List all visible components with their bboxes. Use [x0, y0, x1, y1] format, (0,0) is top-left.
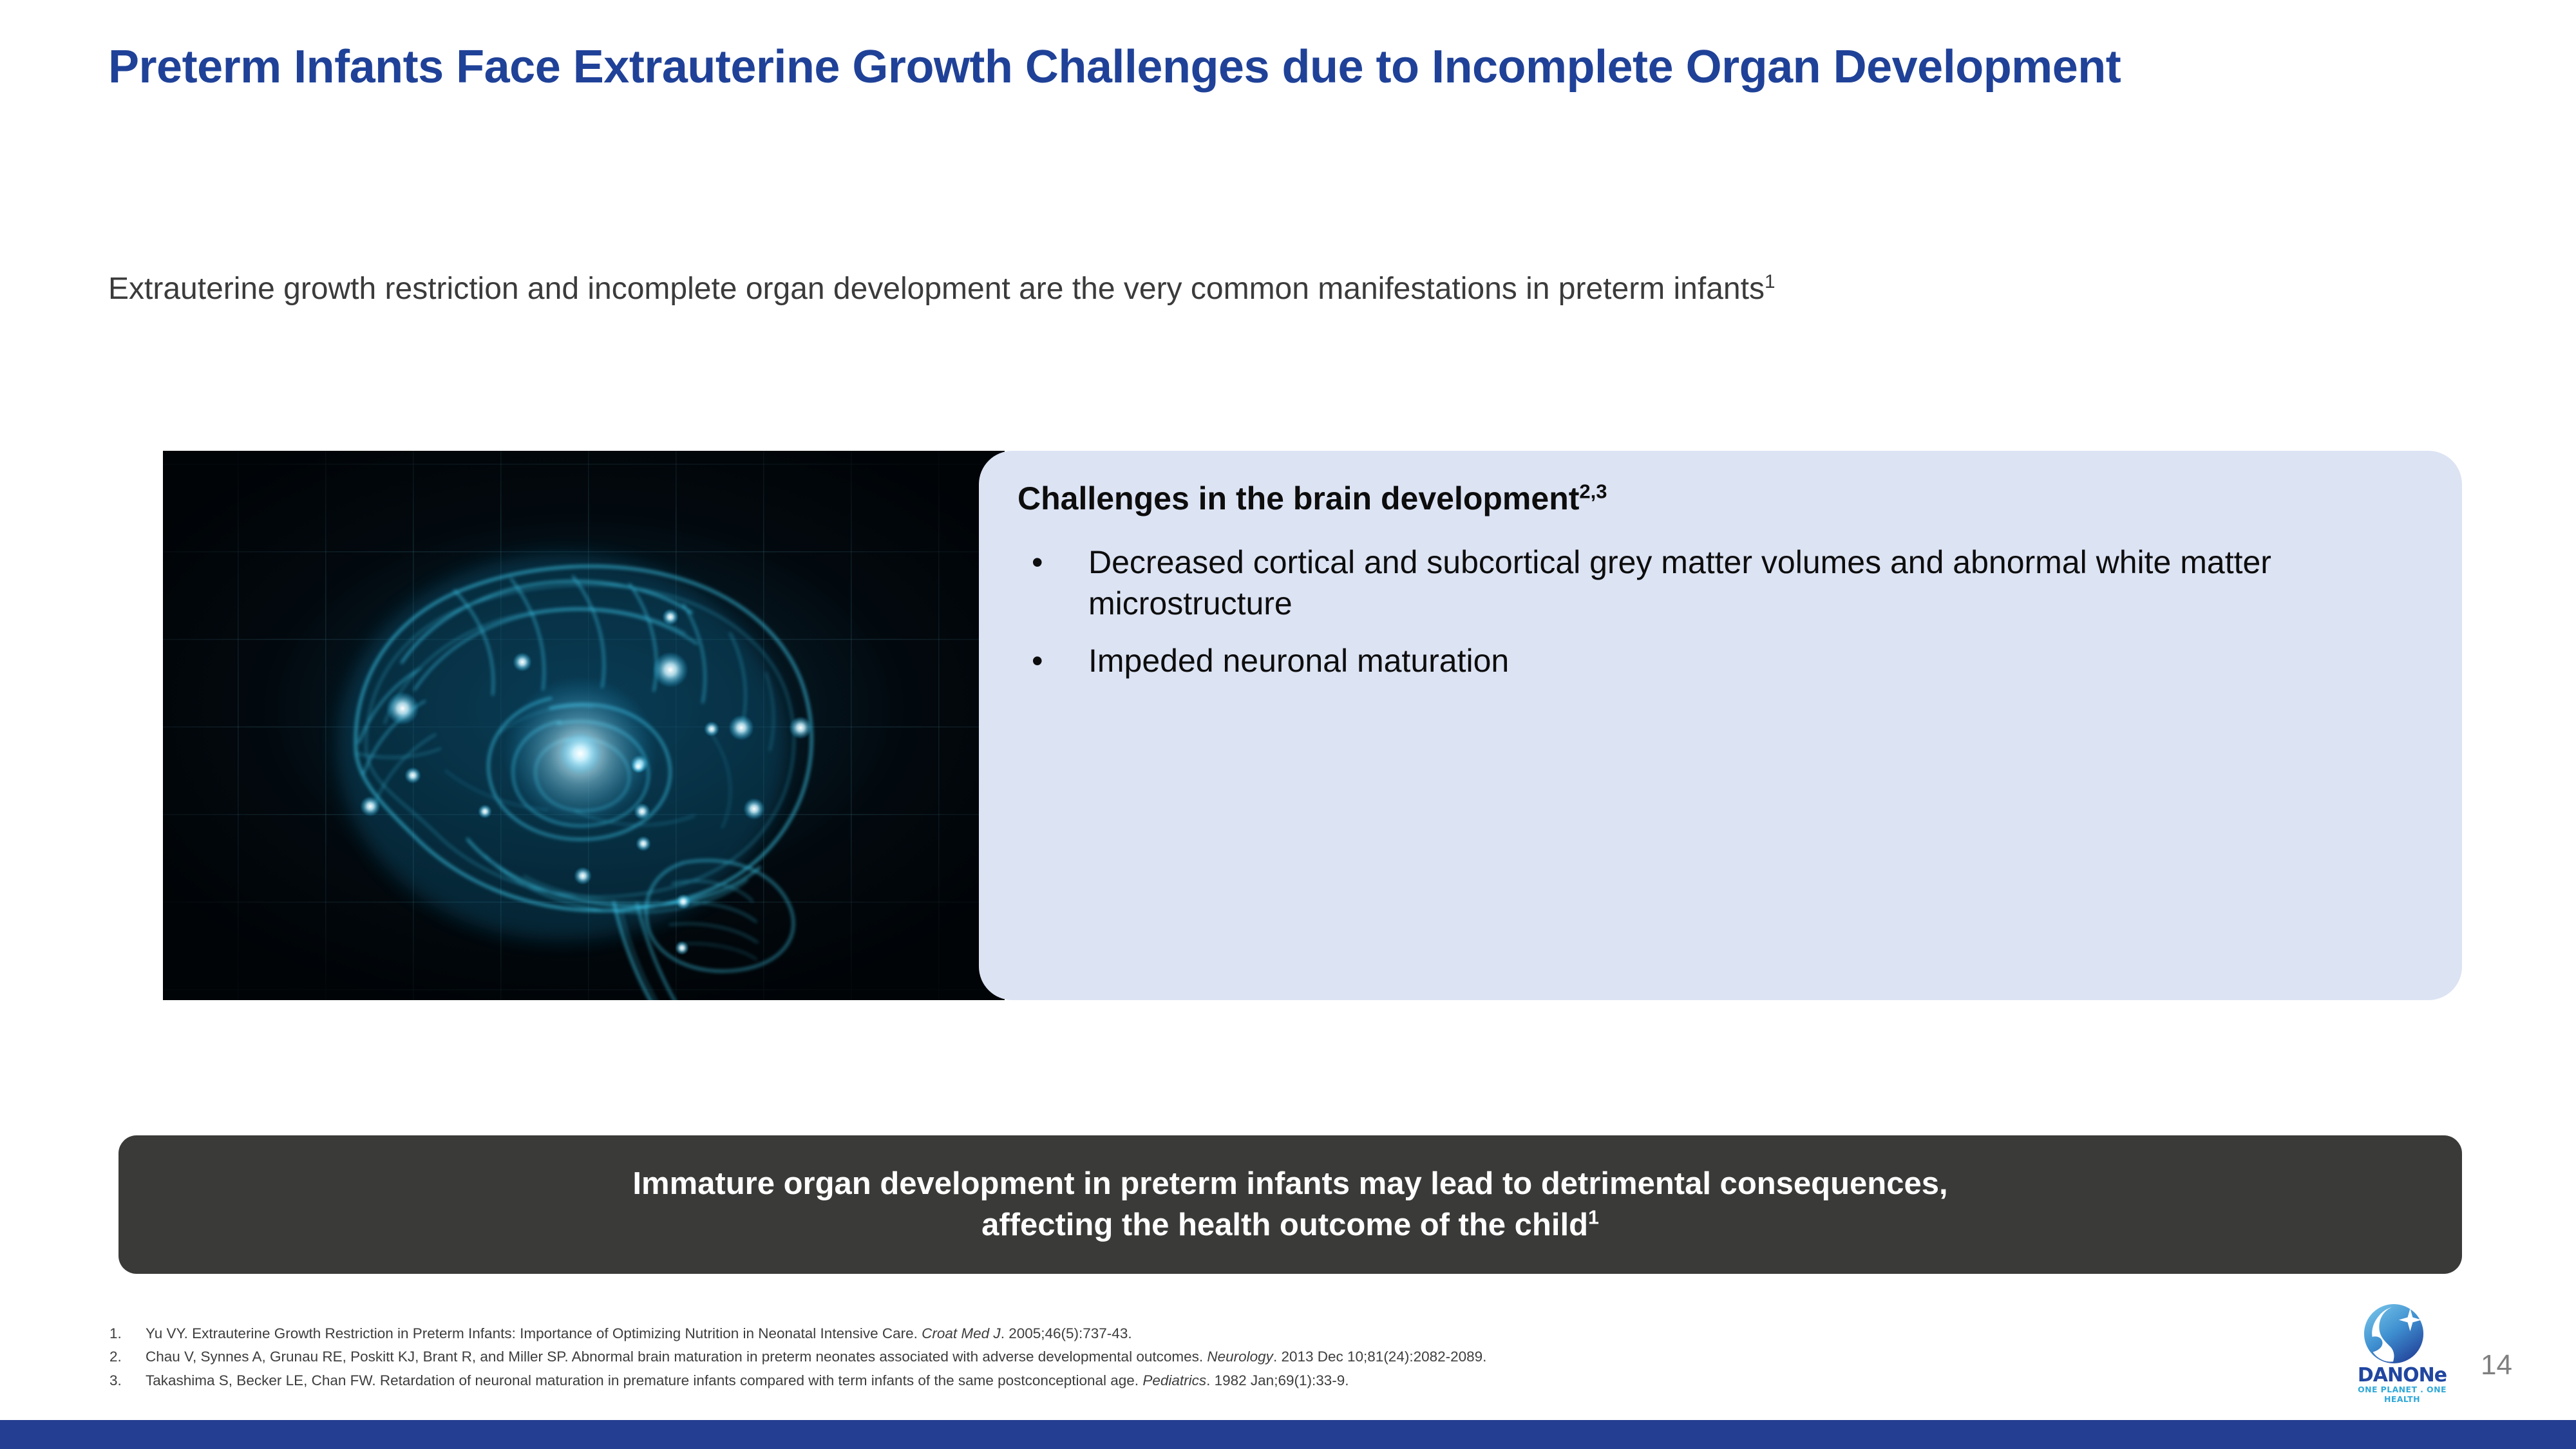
brain-image [163, 451, 1005, 1000]
callout-heading-text: Challenges in the brain development [1018, 480, 1579, 516]
danone-wordmark: DANONe [2351, 1364, 2454, 1387]
takeaway-line-1: Immature organ development in preterm in… [632, 1166, 1947, 1201]
reference-citation-pre: Chau V, Synnes A, Grunau RE, Poskitt KJ,… [146, 1349, 1207, 1365]
subtitle-text: Extrauterine growth restriction and inco… [108, 272, 1765, 306]
takeaway-text: Immature organ development in preterm in… [632, 1164, 1947, 1245]
callout-heading: Challenges in the brain development2,3 [1018, 479, 2423, 518]
reference-citation-post: . 2013 Dec 10;81(24):2082-2089. [1273, 1349, 1487, 1365]
list-item-label: Decreased cortical and subcortical grey … [1088, 544, 2271, 621]
takeaway-line-2: affecting the health outcome of the chil… [981, 1207, 1588, 1242]
reference-citation-pre: Yu VY. Extrauterine Growth Restriction i… [146, 1325, 922, 1341]
reference-item: 1. Yu VY. Extrauterine Growth Restrictio… [109, 1322, 2235, 1345]
bullet-marker-icon: • [1032, 641, 1043, 682]
danone-globe-icon [2362, 1302, 2425, 1365]
reference-journal: Pediatrics [1142, 1372, 1206, 1388]
danone-tagline: ONE PLANET . ONE HEALTH [2351, 1385, 2454, 1404]
reference-number: 1. [109, 1322, 146, 1345]
reference-journal: Neurology [1207, 1349, 1273, 1365]
challenges-callout-panel: Challenges in the brain development2,3 •… [979, 451, 2462, 1000]
page-title: Preterm Infants Face Extrauterine Growth… [108, 40, 2362, 95]
bullet-marker-icon: • [1032, 542, 1043, 583]
reference-text: Takashima S, Becker LE, Chan FW. Retarda… [146, 1369, 2235, 1392]
reference-journal: Croat Med J [922, 1325, 1001, 1341]
reference-citation-pre: Takashima S, Becker LE, Chan FW. Retarda… [146, 1372, 1142, 1388]
reference-text: Chau V, Synnes A, Grunau RE, Poskitt KJ,… [146, 1345, 2235, 1368]
callout-heading-superscript: 2,3 [1579, 480, 1607, 502]
takeaway-superscript: 1 [1588, 1206, 1599, 1228]
list-item: • Decreased cortical and subcortical gre… [1018, 542, 2423, 624]
reference-number: 2. [109, 1345, 146, 1368]
takeaway-banner: Immature organ development in preterm in… [118, 1135, 2462, 1274]
danone-logo: DANONe ONE PLANET . ONE HEALTH [2351, 1302, 2460, 1399]
bottom-accent-bar [0, 1420, 2576, 1449]
slide-subtitle: Extrauterine growth restriction and inco… [108, 269, 2478, 308]
reference-number: 3. [109, 1369, 146, 1392]
reference-citation-post: . 2005;46(5):737-43. [1001, 1325, 1132, 1341]
challenges-bullet-list: • Decreased cortical and subcortical gre… [1018, 542, 2423, 682]
reference-text: Yu VY. Extrauterine Growth Restriction i… [146, 1322, 2235, 1345]
reference-citation-post: . 1982 Jan;69(1):33-9. [1206, 1372, 1349, 1388]
list-item: • Impeded neuronal maturation [1018, 641, 2423, 682]
subtitle-superscript: 1 [1765, 271, 1776, 292]
reference-item: 3. Takashima S, Becker LE, Chan FW. Reta… [109, 1369, 2235, 1392]
list-item-label: Impeded neuronal maturation [1088, 643, 1509, 679]
reference-item: 2. Chau V, Synnes A, Grunau RE, Poskitt … [109, 1345, 2235, 1368]
references-list: 1. Yu VY. Extrauterine Growth Restrictio… [109, 1322, 2235, 1392]
brain-icon [163, 451, 1005, 1000]
page-number: 14 [2481, 1349, 2512, 1381]
